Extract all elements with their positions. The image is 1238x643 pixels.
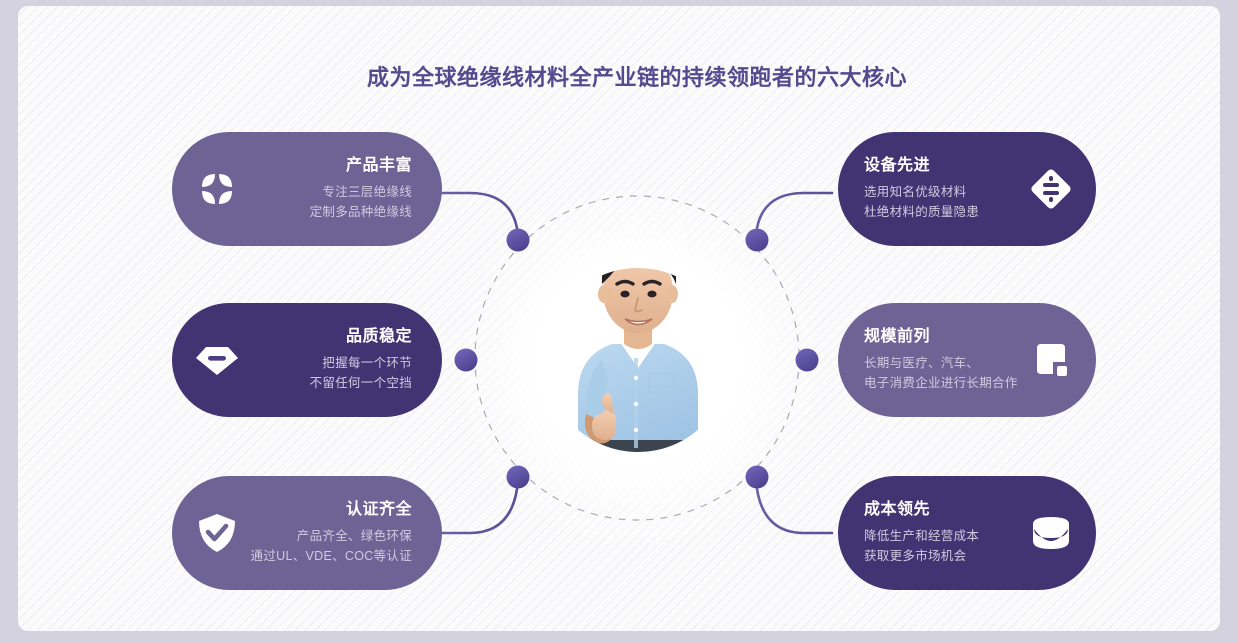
card-line-1: 产品齐全、绿色环保 — [244, 526, 412, 546]
card-line-2: 电子消费企业进行长期合作 — [864, 373, 1024, 393]
card-line-1: 专注三层绝缘线 — [244, 182, 412, 202]
card-title: 产品丰富 — [244, 156, 412, 175]
feature-card-product-rich[interactable]: 产品丰富 专注三层绝缘线 定制多品种绝缘线 — [172, 132, 442, 246]
feature-card-quality-stable[interactable]: 品质稳定 把握每一个环节 不留任何一个空挡 — [172, 303, 442, 417]
diamond-equals-icon — [1024, 162, 1078, 216]
card-line-2: 获取更多市场机会 — [864, 546, 1024, 566]
card-text: 产品丰富 专注三层绝缘线 定制多品种绝缘线 — [244, 156, 416, 223]
shield-check-icon — [190, 506, 244, 560]
feature-card-advanced-equipment[interactable]: 设备先进 选用知名优级材料 杜绝材料的质量隐患 — [838, 132, 1096, 246]
card-text: 品质稳定 把握每一个环节 不留任何一个空挡 — [244, 327, 416, 394]
card-text: 规模前列 长期与医疗、汽车、 电子消费企业进行长期合作 — [864, 327, 1024, 394]
card-line-2: 定制多品种绝缘线 — [244, 202, 412, 222]
card-line-2: 通过UL、VDE、COC等认证 — [244, 546, 412, 566]
connector-card-1 — [442, 193, 517, 228]
center-photo — [546, 268, 730, 452]
database-stack-icon — [1024, 506, 1078, 560]
person-thumbs-up-illustration — [516, 218, 760, 468]
card-line-1: 长期与医疗、汽车、 — [864, 353, 1024, 373]
card-title: 成本领先 — [864, 500, 1024, 519]
node-dot-2 — [455, 349, 478, 372]
feature-card-scale-leading[interactable]: 规模前列 长期与医疗、汽车、 电子消费企业进行长期合作 — [838, 303, 1096, 417]
card-title: 品质稳定 — [244, 327, 412, 346]
content-panel: 成为全球绝缘线材料全产业链的持续领跑者的六大核心 — [18, 6, 1220, 631]
connector-card-4 — [757, 193, 832, 228]
card-line-2: 不留任何一个空挡 — [244, 373, 412, 393]
node-dot-6 — [746, 466, 769, 489]
page-title: 成为全球绝缘线材料全产业链的持续领跑者的六大核心 — [18, 60, 1220, 92]
card-text: 成本领先 降低生产和经营成本 获取更多市场机会 — [864, 500, 1024, 567]
card-line-2: 杜绝材料的质量隐患 — [864, 202, 1024, 222]
connector-card-3 — [442, 489, 517, 533]
card-title: 认证齐全 — [244, 500, 412, 519]
card-text: 认证齐全 产品齐全、绿色环保 通过UL、VDE、COC等认证 — [244, 500, 416, 567]
connector-card-6 — [757, 489, 832, 533]
feature-card-cost-leading[interactable]: 成本领先 降低生产和经营成本 获取更多市场机会 — [838, 476, 1096, 590]
card-line-1: 选用知名优级材料 — [864, 182, 1024, 202]
node-dot-5 — [796, 349, 819, 372]
card-title: 规模前列 — [864, 327, 1024, 346]
feature-card-certification[interactable]: 认证齐全 产品齐全、绿色环保 通过UL、VDE、COC等认证 — [172, 476, 442, 590]
node-dot-3 — [507, 466, 530, 489]
infographic-stage: 成为全球绝缘线材料全产业链的持续领跑者的六大核心 — [0, 0, 1238, 643]
card-title: 设备先进 — [864, 156, 1024, 175]
card-text: 设备先进 选用知名优级材料 杜绝材料的质量隐患 — [864, 156, 1024, 223]
card-line-1: 把握每一个环节 — [244, 353, 412, 373]
square-corner-icon — [1024, 333, 1078, 387]
four-petal-flower-icon — [190, 162, 244, 216]
card-line-1: 降低生产和经营成本 — [864, 526, 1024, 546]
gem-diamond-icon — [190, 333, 244, 387]
